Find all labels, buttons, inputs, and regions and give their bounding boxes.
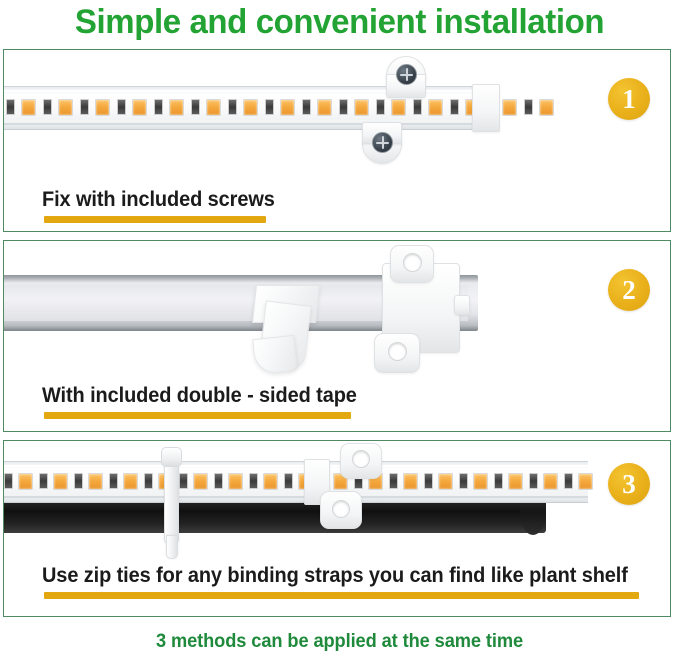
step-caption-1: Fix with included screws [42, 188, 275, 212]
step-number-badge-3: 3 [608, 463, 650, 505]
resistor-chip [179, 473, 188, 489]
resistor-chip [249, 473, 258, 489]
led-chip [438, 473, 453, 490]
resistor-chip [564, 473, 573, 489]
resistor-chip [524, 99, 533, 115]
resistor-chip [494, 473, 503, 489]
led-chip [391, 99, 406, 116]
screw-icon [372, 132, 393, 153]
led-chip [502, 99, 517, 116]
caption-underline-3 [44, 592, 639, 599]
resistor-chip [339, 99, 348, 115]
caption-underline-1 [44, 216, 266, 223]
led-chip [53, 473, 68, 490]
led-chip [354, 99, 369, 116]
led-chip [123, 473, 138, 490]
screw-hole-bottom [388, 342, 407, 361]
resistor-chip [376, 99, 385, 115]
led-chip [428, 99, 443, 116]
resistor-chip [43, 99, 52, 115]
step-caption-2: With included double - sided tape [42, 384, 357, 408]
led-chip [403, 473, 418, 490]
bracket-side-nub [454, 295, 470, 315]
step-panel-2: 2 With included double - sided tape [3, 240, 671, 432]
led-chip [263, 473, 278, 490]
resistor-chip [284, 473, 293, 489]
resistor-chip [80, 99, 89, 115]
resistor-chip [529, 473, 538, 489]
screw-hole-bottom [332, 500, 350, 518]
resistor-chip [228, 99, 237, 115]
led-chip [317, 99, 332, 116]
led-chip [169, 99, 184, 116]
led-chip [508, 473, 523, 490]
led-chip [543, 473, 558, 490]
step-number-badge-1: 1 [608, 78, 650, 120]
led-chip [95, 99, 110, 116]
resistor-chip [302, 99, 311, 115]
resistor-chip [265, 99, 274, 115]
footer-note: 3 methods can be applied at the same tim… [14, 622, 666, 661]
caption-underline-2 [44, 412, 351, 419]
infographic-page: Simple and convenient installation [0, 0, 679, 661]
strip-end-cap [472, 84, 500, 132]
resistor-chip [413, 99, 422, 115]
led-chip [228, 473, 243, 490]
resistor-chip [74, 473, 83, 489]
page-title: Simple and convenient installation [10, 0, 669, 44]
led-chip [21, 99, 36, 116]
led-chip [473, 473, 488, 490]
resistor-chip [450, 99, 459, 115]
led-row [4, 471, 588, 491]
resistor-chip [6, 99, 15, 115]
led-chip [206, 99, 221, 116]
screw-icon [396, 64, 417, 85]
step-panel-1: 1 Fix with included screws [3, 49, 671, 232]
resistor-chip [154, 99, 163, 115]
resistor-chip [214, 473, 223, 489]
zip-tie-head [161, 447, 182, 467]
led-row [6, 97, 498, 117]
led-chip [280, 99, 295, 116]
zip-tie-tail [166, 535, 178, 559]
resistor-chip [144, 473, 153, 489]
step-caption-3: Use zip ties for any binding straps you … [42, 564, 628, 588]
led-chip [578, 473, 593, 490]
resistor-chip [117, 99, 126, 115]
resistor-chip [109, 473, 118, 489]
step-panel-3: 3 Use zip ties for any binding straps yo… [3, 440, 671, 617]
resistor-chip [424, 473, 433, 489]
screw-hole-top [352, 450, 370, 468]
led-chip [132, 99, 147, 116]
led-chip [243, 99, 258, 116]
led-chip [18, 473, 33, 490]
resistor-chip [389, 473, 398, 489]
resistor-chip [191, 99, 200, 115]
resistor-chip [4, 473, 13, 489]
resistor-chip [39, 473, 48, 489]
led-chip [58, 99, 73, 116]
step-number-badge-2: 2 [608, 269, 650, 311]
led-chip [539, 99, 554, 116]
adhesive-tape-tail [252, 335, 298, 375]
led-chip [193, 473, 208, 490]
screw-hole-top [403, 253, 422, 272]
led-chip [88, 473, 103, 490]
resistor-chip [459, 473, 468, 489]
